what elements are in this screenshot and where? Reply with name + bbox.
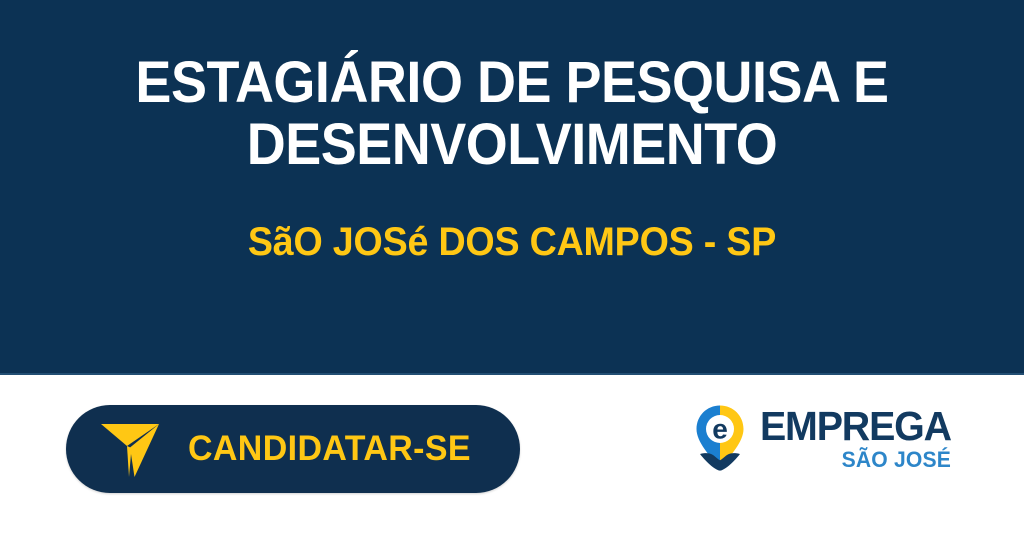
footer-bar: CANDIDATAR-SE: [0, 375, 1024, 538]
job-location: SãO JOSé DOS CAMPOS - SP: [248, 176, 776, 264]
svg-text:e: e: [712, 414, 728, 445]
apply-button-label: CANDIDATAR-SE: [188, 429, 471, 469]
send-paper-plane-icon: [100, 420, 162, 478]
job-posting-card: ESTAGIÁRIO DE PESQUISA E DESENVOLVIMENTO…: [0, 0, 1024, 538]
job-banner: ESTAGIÁRIO DE PESQUISA E DESENVOLVIMENTO…: [0, 0, 1024, 375]
apply-button[interactable]: CANDIDATAR-SE: [66, 405, 520, 493]
brand-wordmark: EMPREGA SÃO JOSÉ: [752, 406, 951, 471]
brand-subtitle: SÃO JOSÉ: [841, 449, 951, 471]
map-pin-e-icon: e: [694, 404, 746, 472]
brand-logo: e EMPREGA SÃO JOSÉ: [694, 400, 951, 476]
page-title: ESTAGIÁRIO DE PESQUISA E DESENVOLVIMENTO: [103, 52, 921, 176]
brand-name: EMPREGA: [760, 406, 951, 447]
